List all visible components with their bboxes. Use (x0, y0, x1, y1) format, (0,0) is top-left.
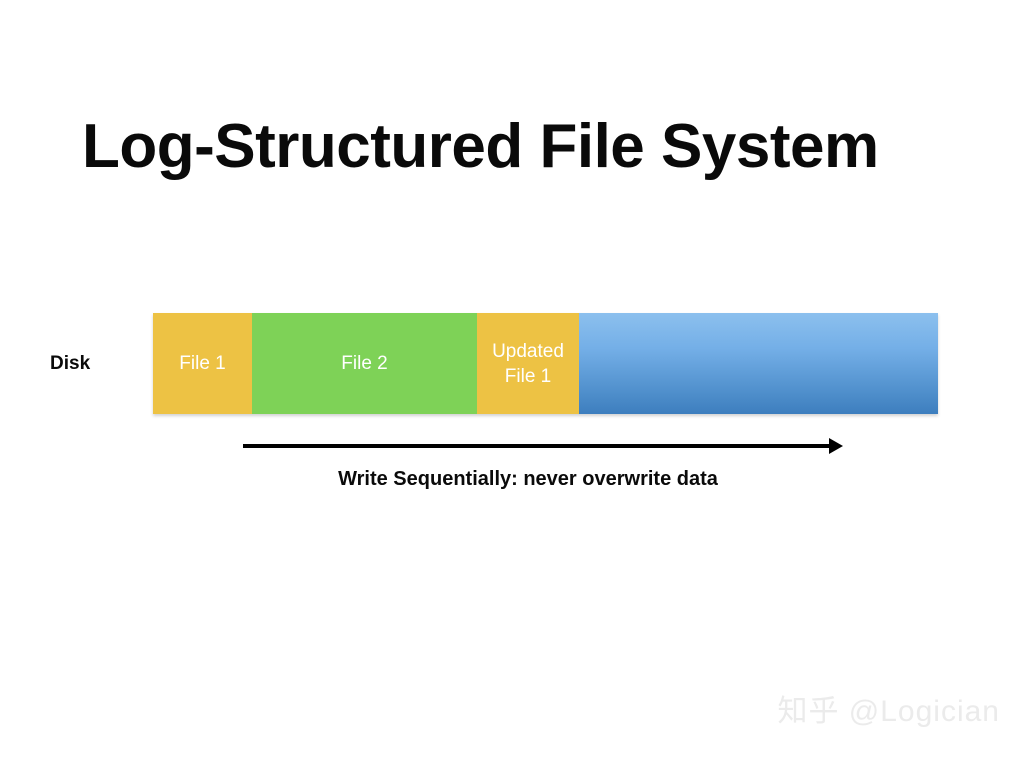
write-direction-arrow-icon (243, 437, 843, 455)
disk-segment-updated-file-1[interactable]: Updated File 1 (477, 313, 579, 414)
write-caption-text: Write Sequentially: never overwrite data (338, 468, 718, 491)
disk-label: Disk (50, 313, 140, 414)
page-title: Log-Structured File System (82, 110, 879, 184)
watermark: 知乎 @Logician (777, 686, 1000, 730)
disk-bar: File 1 File 2 Updated File 1 (153, 313, 938, 414)
disk-segment-file-1[interactable]: File 1 (153, 313, 252, 414)
disk-diagram: Disk File 1 File 2 Updated File 1 (0, 313, 1024, 414)
disk-segment-file-2-label: File 2 (341, 351, 387, 376)
disk-segment-free-space[interactable] (579, 313, 938, 414)
disk-segment-updated-file-1-label-line-1: Updated (492, 339, 564, 364)
slide-canvas: Log-Structured File System Disk File 1 F… (0, 0, 1024, 768)
disk-segment-file-2[interactable]: File 2 (252, 313, 477, 414)
write-caption: Write Sequentially: never overwrite data (0, 468, 1024, 491)
disk-segment-file-1-label: File 1 (179, 351, 225, 376)
disk-segment-updated-file-1-label-line-2: File 1 (492, 364, 564, 389)
disk-segment-updated-file-1-label: Updated File 1 (492, 339, 564, 389)
